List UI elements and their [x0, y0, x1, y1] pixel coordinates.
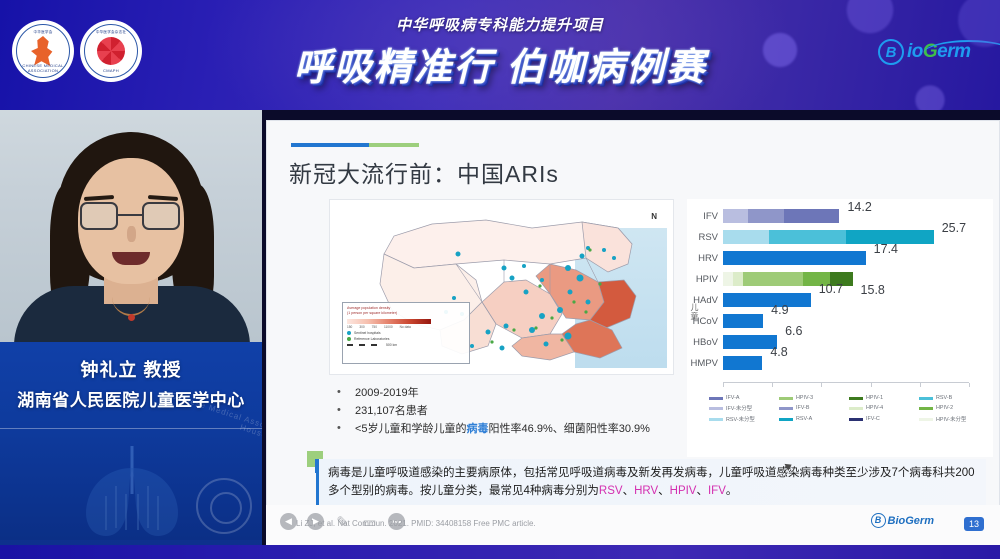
china-map-image: N: [336, 206, 667, 368]
biogerm-logo-header: B ioGerm: [878, 28, 986, 76]
legend-label: HPIV-3: [796, 395, 813, 401]
legend-label: HPIV-未分型: [936, 415, 966, 423]
bar-segment: [723, 209, 748, 223]
legend-swatch: [779, 407, 793, 410]
biogerm-swoosh-icon: [923, 40, 1000, 54]
top-banner: 中华医学会 CHINESE MEDICAL ASSOCIATION 中华医学会杂…: [0, 0, 1000, 110]
legend-item: IFV-A: [709, 395, 775, 401]
bar-category-label: IFV: [703, 211, 718, 222]
bullet-item-2: 231,107名患者: [329, 403, 674, 420]
bar-segment: [723, 272, 733, 286]
legend-label: IFV-未分型: [726, 404, 752, 412]
nose-shape: [127, 226, 136, 242]
bar-segment: [723, 251, 866, 265]
bar-segment: [723, 335, 777, 349]
legend-swatch: [709, 418, 723, 421]
bullet-3-highlight: 病毒: [467, 423, 489, 435]
bar-category-label: HBoV: [693, 337, 718, 348]
reference-lab-label: Reference Laboratories: [354, 337, 389, 342]
biogerm-b-icon: B: [878, 39, 904, 65]
bar-value-label: 25.7: [942, 221, 966, 235]
legend-item: RSV-未分型: [709, 415, 775, 423]
bar-segment: [723, 314, 763, 328]
title-accent-bar-blue: [291, 143, 369, 147]
legend-item: HPIV-未分型: [919, 415, 985, 423]
summary-hl-hrv: HRV: [634, 485, 658, 497]
x-axis-tick: [772, 383, 773, 387]
legend-label: RSV-B: [936, 395, 952, 401]
legend-row-reference: Reference Laboratories: [347, 337, 465, 342]
lungs-decoration-icon: [20, 438, 244, 540]
pathogen-bar-chart: 儿童 IFV14.2RSV25.7HRV17.4HPIV15.8HAdV10.7…: [687, 199, 993, 457]
legend-swatch: [919, 407, 933, 410]
legend-item: RSV-A: [779, 415, 845, 423]
legend-label: HPIV-2: [936, 405, 953, 411]
sentinel-hospital-label: Sentinel hospitals: [354, 331, 381, 336]
presentation-slide[interactable]: 新冠大流行前：中国ARIs N: [266, 120, 1000, 538]
bar-value-label: 10.7: [819, 282, 843, 296]
summary-sep-3: 、: [696, 485, 708, 497]
summary-hl-rsv: RSV: [599, 485, 623, 497]
banner-subtitle: 中华呼吸病专科能力提升项目: [0, 14, 1000, 35]
legend-label: RSV-未分型: [726, 415, 755, 423]
bullet-3-head: <5岁儿童和学龄儿童的: [355, 423, 467, 435]
bar-segment: [723, 293, 811, 307]
legend-label: IFV-C: [866, 416, 880, 422]
legend-swatch: [779, 418, 793, 421]
bottom-strip: [0, 545, 1000, 559]
legend-label: HPIV-4: [866, 405, 883, 411]
bar-value-label: 17.4: [874, 242, 898, 256]
bar-category-label: HAdV: [693, 295, 718, 306]
divider: [0, 428, 262, 429]
sentinel-hospital-marker-icon: [347, 331, 351, 335]
x-axis-tick: [969, 383, 970, 387]
bar-segment: [748, 209, 784, 223]
biogerm-footer-wordmark: BioGerm: [888, 515, 934, 527]
bullet-3-tail: 阳性率46.9%、细菌阳性率30.9%: [489, 423, 650, 435]
china-map-card: N: [329, 199, 674, 375]
previous-slide-button[interactable]: ◀: [280, 513, 297, 530]
scale-bar-label: 500 km: [386, 343, 397, 348]
legend-swatch: [849, 397, 863, 400]
map-legend-title-line2: (1 person per square kilometer): [347, 311, 465, 316]
bar-segment: [723, 230, 769, 244]
bar-row: HCoV4.9: [723, 314, 763, 328]
summary-hl-hpiv: HPIV: [670, 485, 697, 497]
density-tick-2: 750: [372, 325, 377, 330]
legend-swatch: [919, 397, 933, 400]
legend-swatch: [709, 407, 723, 410]
bar-segment: [769, 230, 846, 244]
chart-legend: IFV-AHPIV-3HPIV-1RSV-BIFV-未分型IFV-BHPIV-4…: [709, 395, 985, 423]
bar-row: HAdV10.7: [723, 293, 811, 307]
bullet-item-1: 2009-2019年: [329, 385, 674, 402]
title-accent-bar-green: [369, 143, 419, 147]
biogerm-wordmark: ioGerm: [907, 41, 971, 63]
bar-value-label: 6.6: [785, 324, 802, 338]
density-tick-0: 150: [347, 325, 352, 330]
bar-row: HMPV4.8: [723, 356, 762, 370]
bullet-list: 2009-2019年 231,107名患者 <5岁儿童和学龄儿童的病毒阳性率46…: [329, 385, 674, 457]
legend-swatch: [709, 397, 723, 400]
x-axis-tick: [920, 383, 921, 387]
bar-row: RSV25.7: [723, 230, 934, 244]
bar-category-label: HPIV: [696, 274, 718, 285]
bar-category-label: HMPV: [691, 358, 718, 369]
scale-bar-icon: [347, 344, 383, 346]
summary-sep-1: 、: [623, 485, 635, 497]
speaker-name-band: Chinese Medical Association Publishing H…: [0, 342, 262, 540]
banner-title: 呼吸精准行 伯咖病例赛: [0, 36, 1000, 91]
bullet-item-3: <5岁儿童和学龄儿童的病毒阳性率46.9%、细菌阳性率30.9%: [329, 421, 674, 438]
density-tick-3: 11000: [384, 325, 393, 330]
eyeglass-right-icon: [142, 202, 180, 230]
legend-item: IFV-C: [849, 415, 915, 423]
eyeglass-left-icon: [80, 202, 118, 230]
density-tick-1: 300: [359, 325, 364, 330]
bar-value-label: 14.2: [847, 200, 871, 214]
slide-footer: ◀ ▶ ✎ ▭ ••• Li ZJ, et al. Nat Commun. 20…: [266, 505, 1000, 545]
speaker-organization: 湖南省人民医院儿童医学中心: [0, 386, 262, 411]
slide-title: 新冠大流行前：中国ARIs: [289, 155, 559, 189]
speaker-video-panel[interactable]: Chinese Medical Association Publishing H…: [0, 110, 262, 559]
legend-swatch: [849, 418, 863, 421]
legend-swatch: [849, 407, 863, 410]
legend-label: HPIV-1: [866, 395, 883, 401]
bar-segment: [723, 356, 762, 370]
speaker-webcam-feed: [0, 110, 262, 342]
summary-hl-ifv: IFV: [708, 485, 726, 497]
legend-item: HPIV-4: [849, 404, 915, 412]
legend-item: IFV-未分型: [709, 404, 775, 412]
eyeglass-bridge: [118, 214, 142, 216]
bar-segment: [743, 272, 802, 286]
summary-period: 。: [726, 485, 738, 497]
x-axis-tick: [821, 383, 822, 387]
legend-label: RSV-A: [796, 416, 812, 422]
legend-swatch: [779, 397, 793, 400]
legend-item: HPIV-3: [779, 395, 845, 401]
bar-value-label: 4.9: [771, 303, 788, 317]
biogerm-logo-footer: B BioGerm: [871, 513, 934, 528]
bar-row: IFV14.2: [723, 209, 839, 223]
density-tick-labels: 150 300 750 11000 No data: [347, 325, 465, 330]
density-color-ramp: [347, 319, 431, 324]
map-legend: Average population density (1 person per…: [342, 302, 470, 364]
summary-sep-2: 、: [658, 485, 670, 497]
source-citation: Li ZJ, et al. Nat Commun. 2021. PMID: 34…: [296, 519, 536, 528]
bar-value-label: 4.8: [770, 345, 787, 359]
bar-row: HRV17.4: [723, 251, 866, 265]
bar-category-label: HRV: [698, 253, 718, 264]
density-nodata-label: No data: [400, 325, 411, 330]
bar-segment: [784, 209, 840, 223]
speaker-name: 钟礼立 教授: [0, 356, 262, 382]
legend-item: IFV-B: [779, 404, 845, 412]
chart-x-axis: [723, 382, 969, 383]
chart-plot-area: IFV14.2RSV25.7HRV17.4HPIV15.8HAdV10.7HCo…: [723, 205, 975, 383]
legend-item: RSV-B: [919, 395, 985, 401]
legend-row-sentinel: Sentinel hospitals: [347, 331, 465, 336]
bar-segment: [733, 272, 744, 286]
page-number-badge: 13: [964, 517, 984, 531]
legend-row-scale: 500 km: [347, 343, 465, 348]
legend-label: IFV-A: [726, 395, 739, 401]
bar-category-label: RSV: [698, 232, 718, 243]
bar-row: HBoV6.6: [723, 335, 777, 349]
biogerm-footer-b-icon: B: [871, 513, 886, 528]
legend-swatch: [919, 418, 933, 421]
legend-item: HPIV-2: [919, 404, 985, 412]
x-axis-tick: [723, 383, 724, 387]
north-arrow-icon: N: [651, 212, 657, 221]
x-axis-tick: [871, 383, 872, 387]
bar-value-label: 15.8: [861, 283, 885, 297]
bar-category-label: HCoV: [693, 316, 718, 327]
necklace-pendant: [128, 314, 135, 321]
legend-label: IFV-B: [796, 405, 809, 411]
legend-item: HPIV-1: [849, 395, 915, 401]
reference-lab-marker-icon: [347, 337, 351, 341]
